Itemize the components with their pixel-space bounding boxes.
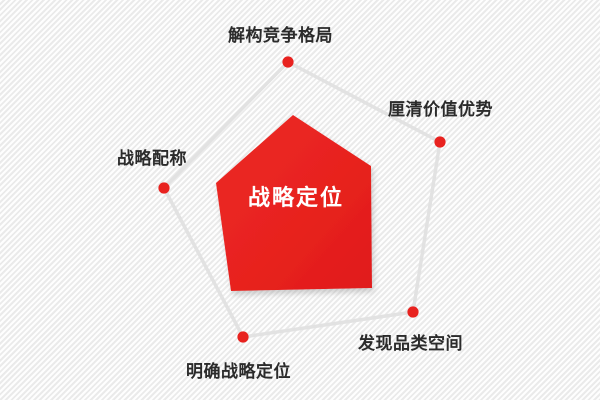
node-label-lower-left: 明确战略定位: [186, 363, 291, 380]
vertex-dot-top[interactable]: [282, 56, 293, 67]
node-label-upper-right: 厘清价值优势: [388, 101, 493, 118]
node-label-top: 解构竞争格局: [228, 27, 333, 44]
vertex-dot-bottom-left[interactable]: [237, 331, 248, 342]
vertex-dot-bottom-right[interactable]: [407, 306, 418, 317]
node-label-upper-left: 战略配称: [117, 150, 187, 167]
center-label: 战略定位: [0, 187, 596, 209]
vertex-dot-right[interactable]: [434, 136, 445, 147]
node-label-lower-right: 发现品类空间: [358, 335, 463, 352]
pentagon-diagram: 解构竞争格局 厘清价值优势 发现品类空间 明确战略定位 战略配称 战略定位: [0, 0, 600, 400]
